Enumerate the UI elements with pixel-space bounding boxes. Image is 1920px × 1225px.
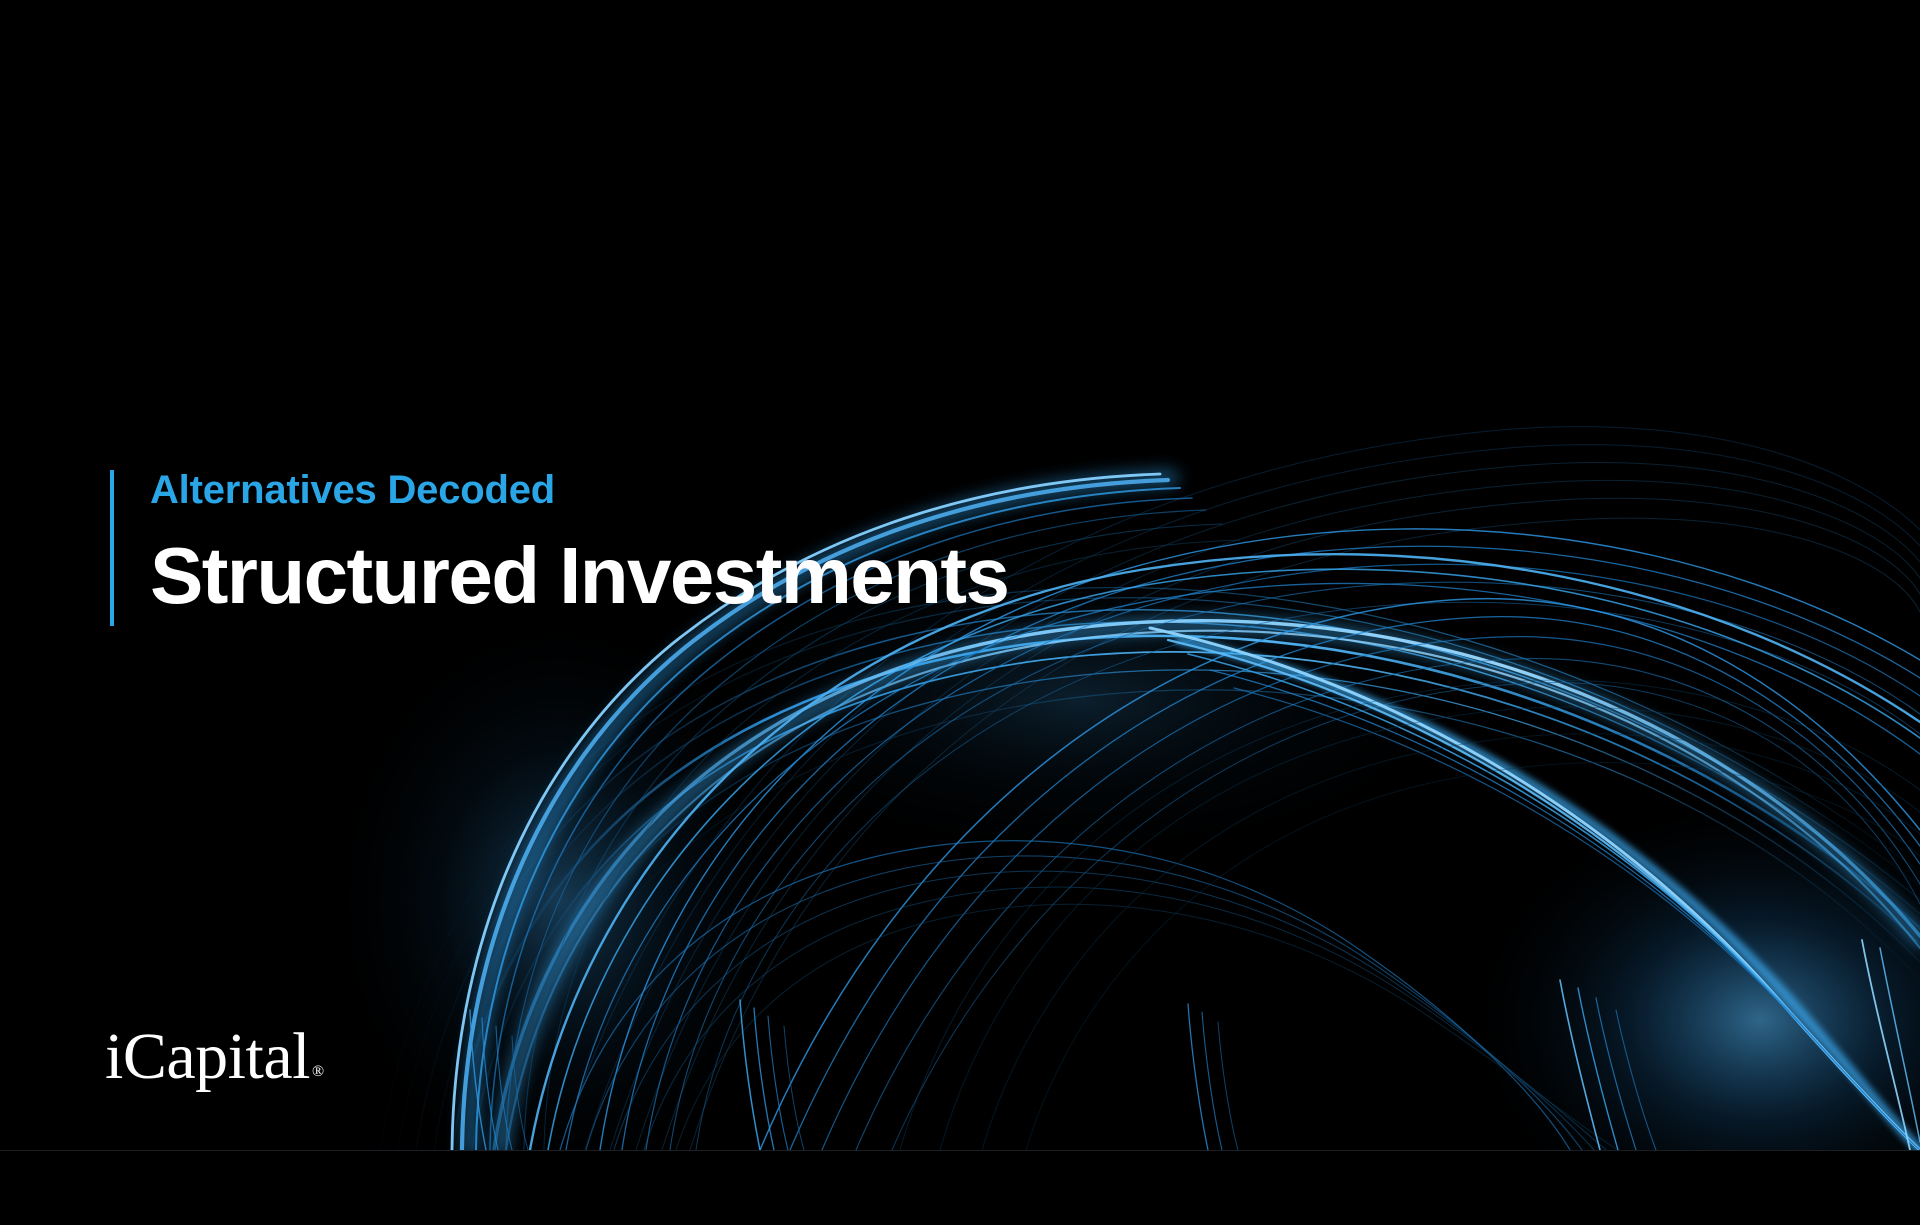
- icapital-logo: iCapital®: [105, 1024, 322, 1090]
- registered-mark-icon: ®: [312, 1063, 324, 1080]
- title-block: Alternatives Decoded Structured Investme…: [110, 470, 1008, 626]
- footer-band: [0, 1151, 1920, 1225]
- page-title: Structured Investments: [150, 510, 1008, 616]
- eyebrow-label: Alternatives Decoded: [150, 470, 1008, 510]
- title-slide: Alternatives Decoded Structured Investme…: [0, 0, 1920, 1225]
- logo-wordmark: iCapital: [105, 1020, 310, 1093]
